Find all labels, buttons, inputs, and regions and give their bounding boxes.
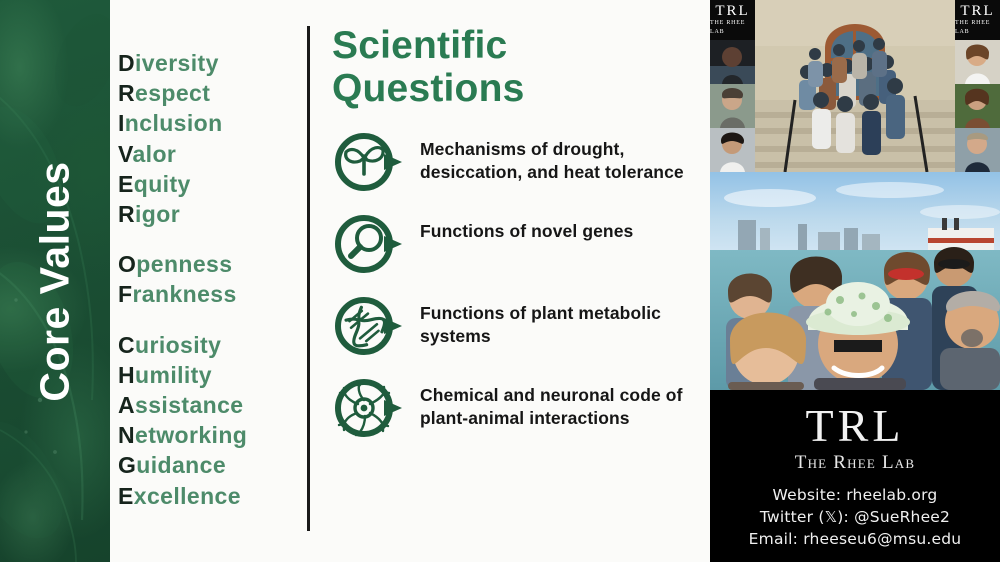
value-row: Curiosity: [118, 330, 298, 360]
headshot-thumbnail: [955, 84, 1000, 128]
value-rest: nclusion: [125, 110, 223, 136]
value-initial: C: [118, 332, 135, 358]
title-line-1: Scientific: [332, 24, 702, 67]
right-media-column: TRL The Rhee Lab: [710, 0, 1000, 562]
questions-list: Mechanisms of drought, desiccation, and …: [332, 132, 702, 442]
value-rest: ssistance: [135, 392, 243, 418]
contact-twitter[interactable]: Twitter (𝕏): @SueRhee2: [749, 506, 962, 528]
value-row: Rigor: [118, 199, 298, 229]
question-item: Functions of plant metabolic systems: [332, 296, 702, 360]
contact-block: TRL The Rhee Lab Website: rheelab.org Tw…: [710, 390, 1000, 562]
vertical-divider: [307, 26, 310, 531]
core-values-title: Core Values: [32, 161, 79, 401]
value-initial: A: [118, 392, 135, 418]
magnifier-icon: [332, 210, 406, 278]
value-rest: iversity: [135, 50, 219, 76]
scientific-questions-title: Scientific Questions: [332, 24, 702, 110]
trl-badge-logo: TRL: [715, 4, 749, 19]
value-initial: F: [118, 281, 132, 307]
value-initial: R: [118, 80, 135, 106]
value-initial: V: [118, 141, 132, 167]
seedling-icon: [332, 128, 406, 196]
value-row: Valor: [118, 139, 298, 169]
lab-group-photo: [755, 0, 955, 172]
value-row: Openness: [118, 249, 298, 279]
question-text: Functions of plant metabolic systems: [420, 296, 702, 347]
value-rest: quity: [134, 171, 191, 197]
question-text: Functions of novel genes: [420, 214, 633, 243]
question-text: Chemical and neuronal code of plant-anim…: [420, 378, 702, 429]
dna-icon: [332, 292, 406, 360]
value-row: Assistance: [118, 390, 298, 420]
value-row: Respect: [118, 78, 298, 108]
value-row: Diversity: [118, 48, 298, 78]
value-rest: etworking: [135, 422, 247, 448]
value-initial: R: [118, 201, 135, 227]
trl-badge-right: TRL The Rhee Lab: [955, 0, 1000, 40]
scientific-questions-section: Scientific Questions Mechanisms of droug…: [332, 24, 702, 442]
value-row: Excellence: [118, 481, 298, 511]
lab-name: The Rhee Lab: [795, 451, 915, 475]
value-initial: D: [118, 50, 135, 76]
value-initial: N: [118, 422, 135, 448]
value-rest: igor: [135, 201, 180, 227]
lab-selfie-photo: [710, 172, 1000, 390]
value-initial: I: [118, 110, 125, 136]
value-rest: rankness: [132, 281, 236, 307]
value-rest: alor: [132, 141, 176, 167]
value-row: Frankness: [118, 279, 298, 309]
thumbnail-column-left: TRL The Rhee Lab: [710, 0, 755, 172]
value-initial: E: [118, 483, 134, 509]
value-initial: G: [118, 452, 136, 478]
value-rest: xcellence: [134, 483, 241, 509]
contact-website[interactable]: Website: rheelab.org: [749, 484, 962, 506]
question-item: Mechanisms of drought, desiccation, and …: [332, 132, 702, 196]
value-row: Equity: [118, 169, 298, 199]
value-rest: penness: [136, 251, 232, 277]
trl-badge-left: TRL The Rhee Lab: [710, 0, 755, 40]
value-initial: O: [118, 251, 136, 277]
value-rest: espect: [135, 80, 210, 106]
headshot-thumbnail: [710, 84, 755, 128]
trl-badge-sub: The Rhee Lab: [955, 19, 1000, 37]
question-text: Mechanisms of drought, desiccation, and …: [420, 132, 702, 183]
value-initial: H: [118, 362, 135, 388]
headshot-thumbnail: [955, 128, 1000, 172]
trl-logo: TRL: [806, 402, 905, 450]
value-row: Guidance: [118, 450, 298, 480]
slide-root: Core Values Diversity Respect Inclusion …: [0, 0, 1000, 562]
headshot-thumbnail: [710, 40, 755, 84]
value-row: Networking: [118, 420, 298, 450]
question-item: Chemical and neuronal code of plant-anim…: [332, 378, 702, 442]
value-row: Humility: [118, 360, 298, 390]
lab-photo-collage: TRL The Rhee Lab: [710, 0, 1000, 172]
title-line-2: Questions: [332, 67, 702, 110]
core-values-band: Core Values: [0, 0, 110, 562]
trl-badge-logo: TRL: [960, 4, 994, 19]
headshot-thumbnail: [955, 40, 1000, 84]
core-values-group-of: Openness Frankness: [118, 249, 298, 309]
core-values-list: Diversity Respect Inclusion Valor Equity…: [118, 48, 298, 511]
contact-lines: Website: rheelab.org Twitter (𝕏): @SueRh…: [749, 484, 962, 550]
value-row: Inclusion: [118, 108, 298, 138]
value-rest: umility: [135, 362, 212, 388]
core-values-title-wrap: Core Values: [0, 0, 110, 562]
thumbnail-column-right: TRL The Rhee Lab: [955, 0, 1000, 172]
core-values-group-change: Curiosity Humility Assistance Networking…: [118, 330, 298, 511]
neuron-icon: [332, 374, 406, 442]
headshot-thumbnail: [710, 128, 755, 172]
core-values-group-driver: Diversity Respect Inclusion Valor Equity…: [118, 48, 298, 229]
contact-email[interactable]: Email: rheeseu6@msu.edu: [749, 528, 962, 550]
value-rest: uriosity: [135, 332, 221, 358]
trl-badge-sub: The Rhee Lab: [710, 19, 755, 37]
question-item: Functions of novel genes: [332, 214, 702, 278]
value-rest: uidance: [136, 452, 226, 478]
value-initial: E: [118, 171, 134, 197]
